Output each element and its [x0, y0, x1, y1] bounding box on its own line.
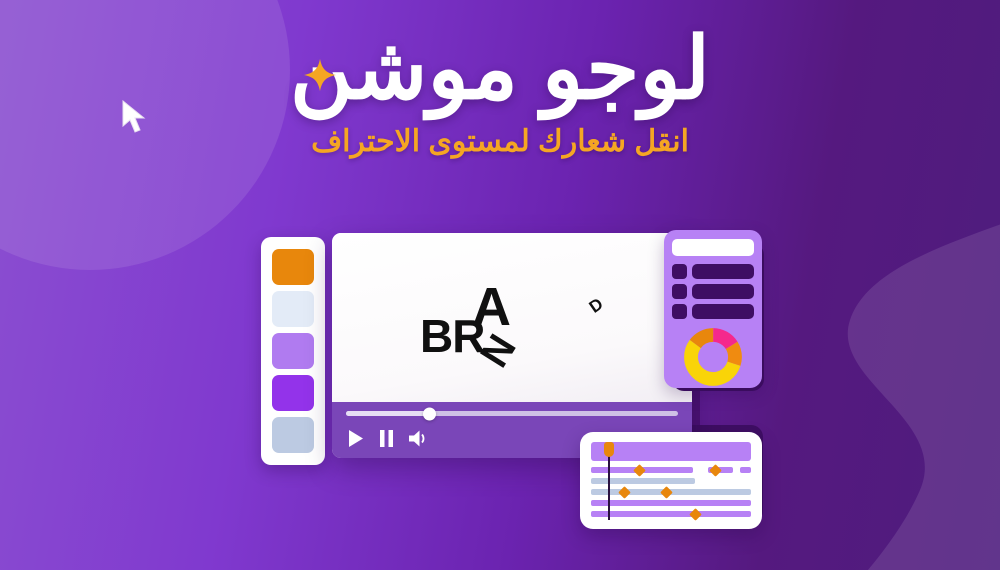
color-palette[interactable] [261, 237, 325, 465]
promo-banner: لوجو موشن انقل شعارك لمستوى الاحتراف BR … [0, 0, 1000, 570]
track-segment[interactable] [740, 467, 751, 473]
keyframe-marker[interactable] [689, 508, 702, 521]
search-input[interactable] [672, 239, 754, 256]
layer-thumbnail-icon [672, 284, 687, 299]
animated-letter-d: D [586, 295, 606, 316]
track-segment[interactable] [591, 511, 751, 517]
decorative-wave-blob [770, 210, 1000, 570]
swatch-orange[interactable] [272, 249, 314, 285]
headline-zone: لوجو موشن انقل شعارك لمستوى الاحتراف [0, 26, 1000, 159]
layer-row-3[interactable] [672, 304, 754, 319]
sparkle-star-icon [303, 58, 337, 92]
mouse-cursor [121, 100, 147, 134]
page-title: لوجو موشن [0, 26, 1000, 114]
animated-letter-n: N [474, 328, 523, 374]
progress-fill [346, 411, 429, 416]
swatch-violet[interactable] [272, 375, 314, 411]
animated-letter-a: A [472, 280, 511, 334]
swatch-steel-blue[interactable] [272, 417, 314, 453]
track-1[interactable] [591, 467, 751, 473]
progress-knob[interactable] [423, 407, 436, 420]
pause-button[interactable] [379, 429, 394, 448]
layer-row-1[interactable] [672, 264, 754, 279]
layer-name-bar [692, 304, 754, 319]
layer-name-bar [692, 284, 754, 299]
keyframe-timeline-panel[interactable] [580, 432, 762, 529]
volume-button[interactable] [408, 429, 429, 448]
track-4[interactable] [591, 500, 751, 506]
keyframe-marker[interactable] [618, 486, 631, 499]
layer-row-2[interactable] [672, 284, 754, 299]
progress-scrubber[interactable] [346, 411, 678, 416]
keyframe-marker[interactable] [709, 464, 722, 477]
track-segment[interactable] [591, 500, 751, 506]
layer-name-bar [692, 264, 754, 279]
brand-color-donut-chart [684, 328, 742, 386]
track-2[interactable] [591, 478, 751, 484]
asset-library-panel[interactable] [664, 230, 762, 388]
keyframe-marker[interactable] [633, 464, 646, 477]
animation-canvas: BR A N D [332, 233, 692, 402]
layer-thumbnail-icon [672, 304, 687, 319]
video-preview-player[interactable]: BR A N D [332, 233, 692, 458]
swatch-light-purple[interactable] [272, 333, 314, 369]
play-button[interactable] [346, 429, 365, 448]
playhead-handle[interactable] [604, 442, 614, 457]
page-subtitle: انقل شعارك لمستوى الاحتراف [0, 124, 1000, 159]
timeline-ruler[interactable] [591, 442, 751, 461]
swatch-pale-blue[interactable] [272, 291, 314, 327]
track-5[interactable] [591, 511, 751, 517]
track-3[interactable] [591, 489, 751, 495]
track-segment[interactable] [591, 478, 695, 484]
layer-thumbnail-icon [672, 264, 687, 279]
keyframe-marker[interactable] [660, 486, 673, 499]
